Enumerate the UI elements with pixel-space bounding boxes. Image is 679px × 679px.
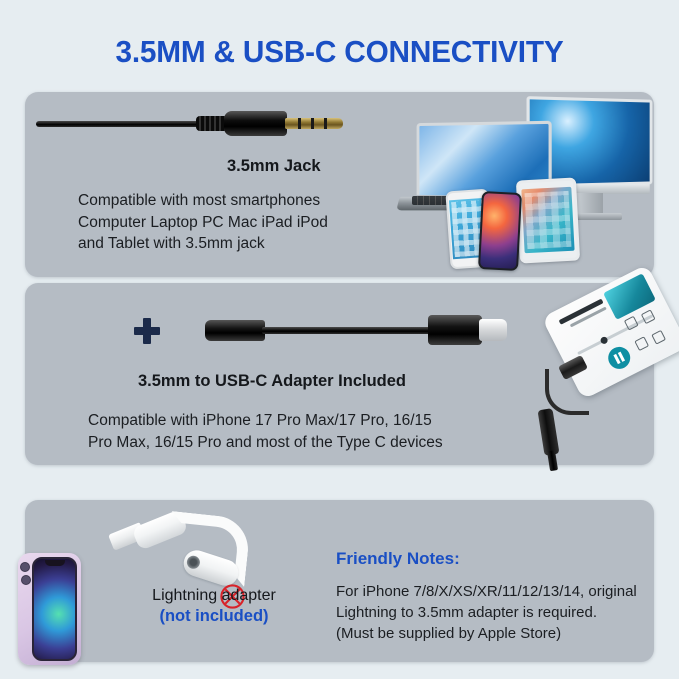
player-icon-3	[634, 336, 649, 351]
iphone-camera-1-graphic	[20, 562, 30, 572]
audio-cable-graphic	[36, 121, 204, 127]
usbc-plug-body-graphic	[428, 315, 482, 345]
iphone-screen-graphic	[32, 557, 77, 661]
lightning-adapter-not-included-label: (not included)	[106, 606, 322, 627]
friendly-notes-heading: Friendly Notes:	[336, 549, 460, 569]
player-icon-4	[651, 330, 666, 345]
page-title: 3.5MM & USB-C CONNECTIVITY	[14, 34, 666, 70]
jack-heading: 3.5mm Jack	[227, 157, 321, 176]
usbc-plug-tip-graphic	[479, 319, 507, 341]
imac-neck-graphic	[575, 193, 603, 215]
tablet-graphic	[516, 177, 580, 263]
lightning-adapter-label-block: Lightning adapter (not included)	[106, 585, 322, 627]
phone-dark-graphic	[478, 191, 522, 271]
jack-barrel-graphic	[224, 111, 287, 136]
iphone-notch-graphic	[45, 560, 65, 566]
pause-button-graphic	[604, 343, 634, 373]
usbc-description: Compatible with iPhone 17 Pro Max/17 Pro…	[88, 410, 443, 453]
jack-description: Compatible with most smartphones Compute…	[78, 190, 328, 255]
iphone-camera-2-graphic	[21, 575, 31, 585]
adapter-cable-graphic	[262, 327, 434, 334]
tablet-screen-graphic	[521, 187, 574, 254]
adapter-socket-graphic	[205, 320, 265, 341]
phone-dark-screen-graphic	[480, 193, 520, 269]
iphone-purple-graphic	[18, 553, 81, 665]
plus-icon	[134, 318, 160, 344]
usbc-heading: 3.5mm to USB-C Adapter Included	[138, 372, 406, 391]
lightning-adapter-label: Lightning adapter	[152, 587, 276, 604]
jack-contacts-graphic	[285, 118, 343, 129]
friendly-notes-body: For iPhone 7/8/X/XS/XR/11/12/13/14, orig…	[336, 581, 637, 644]
